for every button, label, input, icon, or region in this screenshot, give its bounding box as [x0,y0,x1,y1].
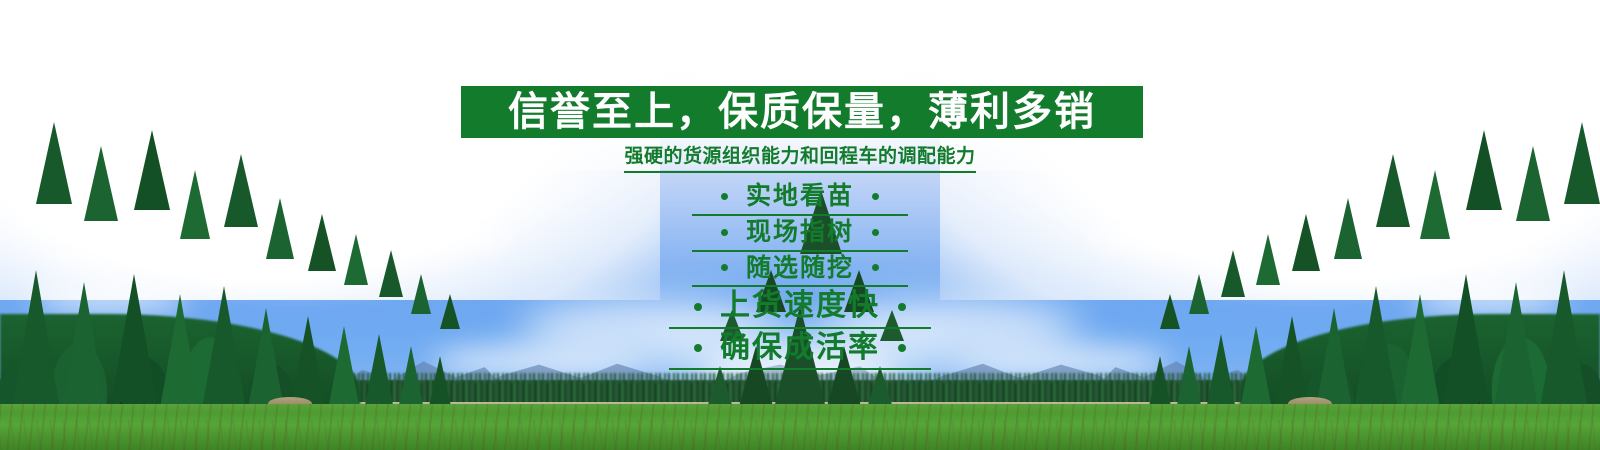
bullet-dot-icon [721,193,728,200]
feature-item-1: 实地看苗 [692,180,908,216]
headline-banner: 信誉至上，保质保量，薄利多销 [461,86,1143,138]
bullet-dot-icon [898,344,906,352]
bullet-dot-icon [872,264,879,271]
bullet-dot-icon [872,193,879,200]
subtitle-row: 强硬的货源组织能力和回程车的调配能力 [0,146,1600,173]
feature-label: 随选随挖 [746,254,854,283]
banner-content: 信誉至上，保质保量，薄利多销 强硬的货源组织能力和回程车的调配能力 实地看苗 现… [0,0,1600,450]
bullet-dot-icon [872,229,879,236]
headline-text: 信誉至上，保质保量，薄利多销 [508,92,1096,132]
bullet-dot-icon [721,264,728,271]
feature-label: 现场指树 [746,218,854,247]
promo-banner: 信誉至上，保质保量，薄利多销 强硬的货源组织能力和回程车的调配能力 实地看苗 现… [0,0,1600,450]
bullet-dot-icon [898,303,906,311]
bullet-dot-icon [721,229,728,236]
feature-label: 确保成活率 [720,331,880,366]
feature-item-3: 随选随挖 [692,252,908,288]
feature-label: 实地看苗 [746,182,854,211]
feature-list: 实地看苗 现场指树 随选随挖 上货速度快 确保成活率 [0,180,1600,370]
feature-item-5: 确保成活率 [669,329,931,371]
bullet-dot-icon [694,303,702,311]
bullet-dot-icon [694,344,702,352]
feature-item-2: 现场指树 [692,216,908,252]
feature-label: 上货速度快 [720,289,880,324]
subtitle-text: 强硬的货源组织能力和回程车的调配能力 [624,146,975,173]
feature-item-4: 上货速度快 [669,287,931,329]
